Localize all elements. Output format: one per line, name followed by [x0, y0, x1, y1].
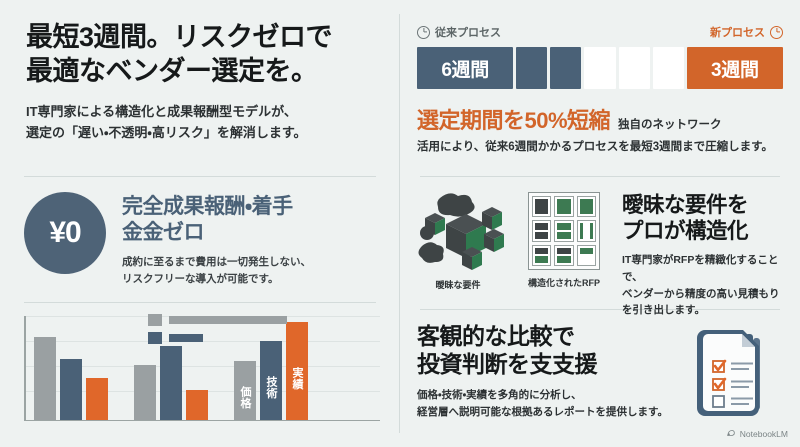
vertical-divider	[399, 14, 400, 433]
legend-placeholder-bar	[169, 334, 203, 342]
legend-swatch	[148, 332, 162, 344]
grid-cell	[532, 245, 551, 266]
timeline-segment-2	[516, 47, 547, 89]
scattered-cubes-icon	[410, 190, 506, 272]
grid-cell	[532, 196, 551, 217]
notebooklm-icon	[726, 428, 736, 440]
structure-body-line-1: IT専門家がRFPを精緻化することで、	[622, 252, 788, 285]
chart-legend	[148, 314, 287, 344]
bar	[34, 337, 56, 420]
hero-title: 最短3週間。リスクゼロで 最適なベンダー選定を。	[26, 20, 386, 88]
bar	[60, 359, 82, 420]
bar: 実績	[286, 322, 308, 420]
structure-section: 曖昧な要件 構造化されたRFP 曖昧な要件を プロが構造化	[410, 190, 788, 319]
hero-subtitle-line-1: IT専門家による構造化と成果報酬型モデルが、	[26, 101, 386, 122]
report-section: 客観的な比較で 投資判断を支支援 価格・技術・実績を多角的に分析し、 経営層へ説…	[417, 322, 783, 429]
bar: 技術	[260, 341, 282, 421]
bar	[86, 378, 108, 420]
old-process-label-group: 従来プロセス	[417, 24, 501, 40]
checklist-document-icon	[695, 324, 783, 429]
structure-body-line-2: ベンダーから精度の高い見積もり	[622, 286, 788, 303]
timeline-segment-3	[550, 47, 581, 89]
comparison-bar-chart: 価格技術実績	[24, 312, 380, 430]
timeline-segment-7: 3週間	[687, 47, 783, 89]
grid-cell	[577, 196, 596, 217]
infographic-page: 最短3週間。リスクゼロで 最適なベンダー選定を。 IT専門家による構造化と成果報…	[0, 0, 800, 447]
timeline-segment-5	[619, 47, 650, 89]
bar-label: 実績	[289, 367, 305, 390]
grid-cell	[554, 196, 573, 217]
old-process-label: 従来プロセス	[435, 24, 501, 40]
legend-row	[148, 314, 287, 326]
vague-requirements-figure: 曖昧な要件	[410, 190, 506, 319]
timeline-bar: 6週間3週間	[417, 47, 783, 89]
bar-label: 技術	[263, 376, 279, 399]
structure-body: IT専門家がRFPを精緻化することで、 ベンダーから精度の高い見積もり を引き出…	[622, 252, 788, 318]
zero-fee-text: 完全成果報酬・着手 金金ゼロ 成約に至るまで費用は一切発生しない、 リスクフリー…	[122, 192, 311, 288]
grid-cell	[532, 220, 551, 241]
hero-subtitle-line-2: 選定の「遅い・不透明・高リスク」を解消します。	[26, 122, 386, 143]
new-process-label: 新プロセス	[710, 24, 765, 40]
yen-zero-badge: ¥0	[24, 192, 106, 274]
grid-cell	[577, 245, 596, 266]
reduction-body: 活用により、従来6週間かかるプロセスを最短3週間まで圧縮します。	[417, 139, 783, 156]
structure-title: 曖昧な要件を プロが構造化	[622, 192, 788, 244]
zero-fee-section: ¥0 完全成果報酬・着手 金金ゼロ 成約に至るまで費用は一切発生しない、 リスク…	[24, 192, 384, 288]
structure-body-line-3: を引き出します。	[622, 302, 788, 319]
zero-fee-title: 完全成果報酬・着手 金金ゼロ	[122, 194, 311, 245]
reduction-headline-row: 選定期間を50%短縮 独自のネットワーク	[417, 103, 783, 135]
bar	[160, 346, 182, 420]
chart-plot-area: 価格技術実績	[24, 312, 380, 430]
bar-group	[34, 314, 108, 420]
structure-title-line-2: プロが構造化	[622, 218, 788, 244]
reduction-headline: 選定期間を50%短縮	[417, 103, 610, 135]
clock-icon	[417, 26, 430, 39]
legend-row	[148, 332, 287, 344]
hero-title-line-1: 最短3週間。リスクゼロで	[26, 20, 386, 54]
bar-label: 価格	[237, 386, 253, 409]
bar	[186, 390, 208, 420]
structured-grid-icon	[528, 192, 600, 270]
report-title-line-2: 投資判断を支支援	[417, 350, 683, 378]
report-title-line-1: 客観的な比較で	[417, 322, 683, 350]
zero-fee-body-line-1: 成約に至るまで費用は一切発生しない、	[122, 254, 311, 271]
hero-subtitle: IT専門家による構造化と成果報酬型モデルが、 選定の「遅い・不透明・高リスク」を…	[26, 101, 386, 143]
structured-rfp-figure: 構造化されたRFP	[516, 190, 612, 319]
hero-section: 最短3週間。リスクゼロで 最適なベンダー選定を。 IT専門家による構造化と成果報…	[26, 20, 386, 143]
grid-cell	[554, 245, 573, 266]
new-process-label-group: 新プロセス	[710, 24, 783, 40]
legend-swatch	[148, 314, 162, 326]
report-body-line-1: 価格・技術・実績を多角的に分析し、	[417, 387, 683, 404]
legend-placeholder-bar	[169, 316, 287, 324]
structure-title-line-1: 曖昧な要件を	[622, 192, 788, 218]
report-title: 客観的な比較で 投資判断を支支援	[417, 322, 683, 378]
horizontal-divider-left-1	[24, 176, 376, 177]
y-axis	[24, 316, 26, 420]
structured-rfp-caption: 構造化されたRFP	[516, 276, 612, 289]
grid-cell	[554, 220, 573, 241]
timeline-segment-4	[584, 47, 615, 89]
zero-fee-title-line-2: 金金ゼロ	[122, 220, 311, 246]
horizontal-divider-right-1	[420, 176, 780, 177]
timeline-header: 従来プロセス 新プロセス	[417, 24, 783, 40]
grid-cell	[577, 220, 596, 241]
bar: 価格	[234, 361, 256, 420]
horizontal-divider-left-2	[24, 302, 376, 303]
vague-requirements-caption: 曖昧な要件	[410, 278, 506, 291]
report-body-line-2: 経営層へ説明可能な根拠あるレポートを提供します。	[417, 404, 683, 421]
zero-fee-title-line-1: 完全成果報酬・着手	[122, 194, 311, 220]
watermark-label: NotebookLM	[740, 429, 788, 439]
reduction-tail: 独自のネットワーク	[618, 116, 722, 132]
hero-title-line-2: 最適なベンダー選定を。	[26, 54, 386, 88]
report-text: 客観的な比較で 投資判断を支支援 価格・技術・実績を多角的に分析し、 経営層へ説…	[417, 322, 683, 420]
timeline-section: 従来プロセス 新プロセス 6週間3週間 選定期間を50%短縮 独自のネットワーク…	[417, 24, 783, 156]
timeline-segment-1: 6週間	[417, 47, 513, 89]
watermark: NotebookLM	[726, 428, 788, 440]
zero-fee-body: 成約に至るまで費用は一切発生しない、 リスクフリーな導入が可能です。	[122, 254, 311, 288]
timeline-segment-6	[653, 47, 684, 89]
clock-icon	[770, 26, 783, 39]
report-body: 価格・技術・実績を多角的に分析し、 経営層へ説明可能な根拠あるレポートを提供しま…	[417, 387, 683, 420]
bar	[134, 365, 156, 420]
structure-text: 曖昧な要件を プロが構造化 IT専門家がRFPを精緻化することで、 ベンダーから…	[622, 190, 788, 319]
zero-fee-body-line-2: リスクフリーな導入が可能です。	[122, 271, 311, 288]
